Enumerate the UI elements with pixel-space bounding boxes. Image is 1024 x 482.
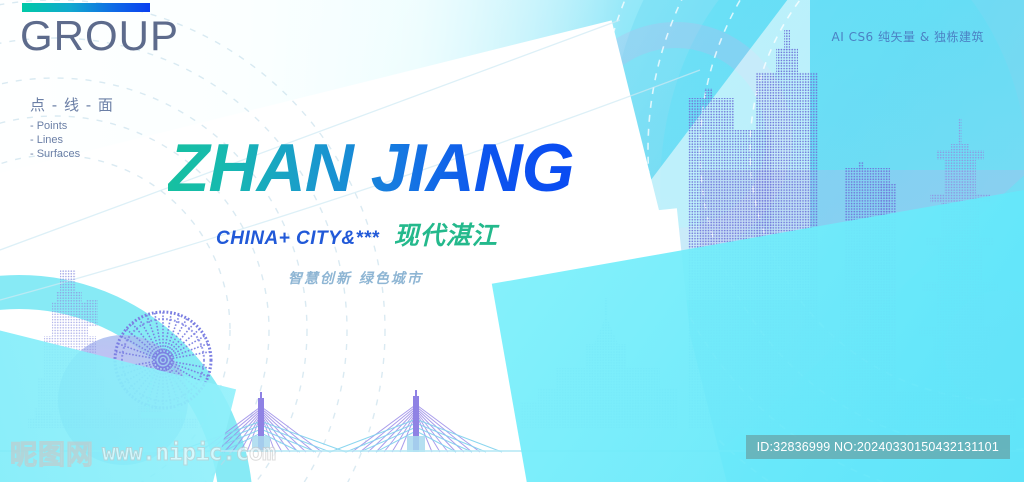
concept-block: 点 - 线 - 面 - Points - Lines - Surfaces <box>30 94 114 161</box>
landmark-bridge-2 <box>330 390 502 452</box>
subtitle-line: CHINA+ CITY&*** 现代湛江 <box>216 216 498 252</box>
tagline: 智慧创新 绿色城市 <box>288 268 423 288</box>
concept-list: - Points - Lines - Surfaces <box>30 119 114 161</box>
watermark-url: www.nipic.com <box>102 440 276 466</box>
brand-name: GROUP <box>20 12 179 60</box>
concept-item-lines: - Lines <box>30 133 114 147</box>
concept-item-points: - Points <box>30 119 114 133</box>
page-title: ZHAN JIANG <box>168 134 574 202</box>
asset-id-badge: ID:32836999 NO:20240330150432131101 <box>746 435 1010 459</box>
subtitle-cn: 现代湛江 <box>394 221 498 250</box>
concept-label-cn: 点 - 线 - 面 <box>30 94 114 115</box>
banner-canvas: GROUP 点 - 线 - 面 - Points - Lines - Surfa… <box>0 0 1024 482</box>
concept-item-surfaces: - Surfaces <box>30 147 114 161</box>
subtitle-en: CHINA+ CITY&*** <box>216 228 379 249</box>
main-title-text: ZHAN JIANG <box>168 134 574 202</box>
watermark: 昵图网 www.nipic.com <box>10 433 276 472</box>
watermark-site-name: 昵图网 <box>10 433 94 472</box>
brand-gradient-bar <box>22 3 150 12</box>
format-note: AI CS6 纯矢量 & 独栋建筑 <box>832 28 985 45</box>
